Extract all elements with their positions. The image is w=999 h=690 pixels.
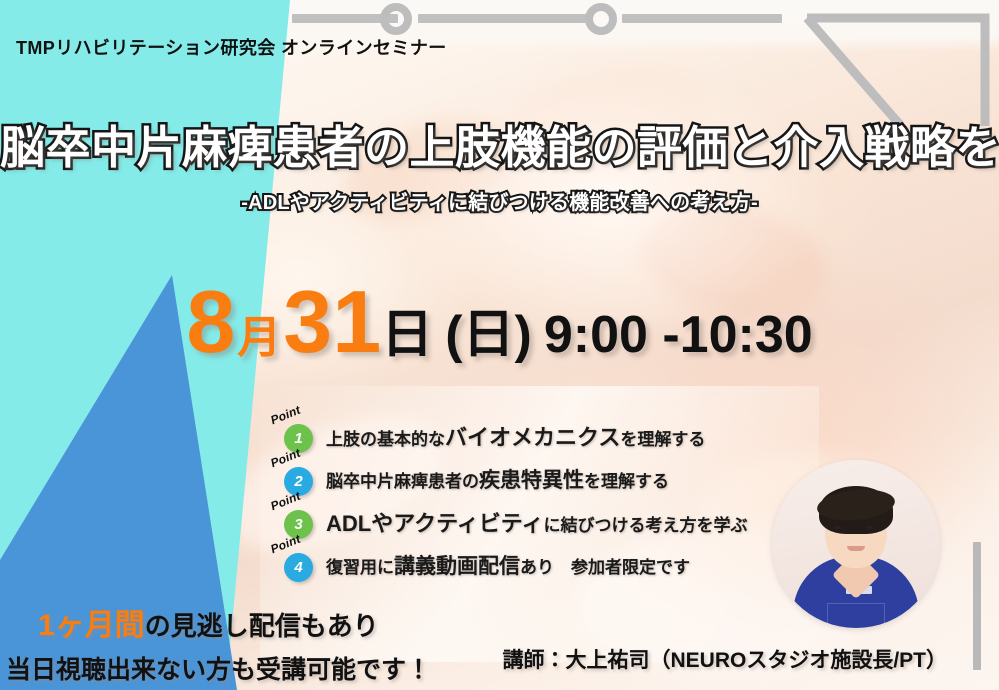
point-badge: Point 4 (284, 549, 316, 581)
deco-ring-icon (585, 3, 617, 35)
point-item: Point 3 ADLやアクティビティに結びつける考え方を学ぶ (284, 500, 747, 543)
point-text-lead: 脳卒中片麻痺患者の (326, 472, 479, 491)
point-badge: Point 3 (284, 506, 316, 538)
point-text: ADLやアクティビティに結びつける考え方を学ぶ (326, 506, 747, 538)
avatar-eye-right (866, 526, 873, 529)
date-month-number: 8 (186, 278, 235, 366)
deco-corner-angle-icon (779, 6, 999, 126)
instructor-caption: 講師：大上祐司（NEUROスタジオ施設長/PT） (502, 644, 947, 674)
date-weekday: (日) (445, 309, 532, 361)
point-text-emphasis: 講義動画配信 (394, 555, 520, 578)
point-text-tail: を理解する (620, 430, 705, 449)
title-block: 脳卒中片麻痺患者の上肢機能の評価と介入戦略を学ぶ -ADLやアクティビティに結び… (0, 122, 999, 215)
point-text: 復習用に講義動画配信あり 参加者限定です (326, 550, 690, 580)
point-text: 脳卒中片麻痺患者の疾患特異性を理解する (326, 464, 669, 494)
organizer-line: TMPリハビリテーション研究会 オンラインセミナー (16, 34, 447, 60)
date-day-number: 31 (283, 278, 381, 366)
avatar-scrubs-pocket (827, 603, 885, 628)
page-title: 脳卒中片麻痺患者の上肢機能の評価と介入戦略を学ぶ (0, 122, 999, 174)
point-text-tail: に結びつける考え方を学ぶ (543, 516, 747, 535)
page-subtitle: -ADLやアクティビティに結びつける機能改善への考え方- (0, 186, 999, 215)
instructor-avatar (772, 460, 940, 628)
date-month-unit: 月 (237, 316, 281, 360)
points-list: Point 1 上肢の基本的なバイオメカニクスを理解する Point 2 脳卒中… (284, 414, 747, 586)
promo-line-1-rest: の見逃し配信もあり (145, 611, 379, 641)
point-text-tail: を理解する (584, 472, 669, 491)
date-row: 8 月 31 日 (日) 9:00 -10:30 (0, 278, 999, 366)
point-badge: Point 2 (284, 463, 316, 495)
avatar-mouth (847, 546, 865, 551)
point-text-lead: 上肢の基本的な (326, 430, 445, 449)
deco-line-segment (622, 14, 782, 23)
promo-line-2: 当日視聴出来ない方も受講可能です！ (6, 650, 424, 686)
point-text-lead: 復習用に (326, 558, 394, 577)
point-item: Point 2 脳卒中片麻痺患者の疾患特異性を理解する (284, 457, 747, 500)
point-item: Point 1 上肢の基本的なバイオメカニクスを理解する (284, 414, 747, 457)
point-number-circle: 4 (284, 553, 313, 582)
point-text: 上肢の基本的なバイオメカニクスを理解する (326, 420, 705, 452)
point-badge: Point 1 (284, 420, 316, 452)
point-text-tail: あり 参加者限定です (520, 558, 690, 577)
point-item: Point 4 復習用に講義動画配信あり 参加者限定です (284, 543, 747, 586)
deco-right-bar (973, 542, 981, 670)
promo-line-1: 1ヶ月間の見逃し配信もあり (38, 600, 424, 644)
promo-block: 1ヶ月間の見逃し配信もあり 当日視聴出来ない方も受講可能です！ (4, 600, 424, 686)
point-text-emphasis: ADLやアクティビティ (326, 511, 543, 536)
promo-highlight: 1ヶ月間 (38, 609, 145, 642)
point-text-emphasis: 疾患特異性 (479, 469, 584, 492)
seminar-flyer: TMPリハビリテーション研究会 オンラインセミナー 脳卒中片麻痺患者の上肢機能の… (0, 0, 999, 690)
avatar-eye-left (834, 526, 841, 529)
date-day-unit: 日 (381, 309, 433, 361)
deco-line-segment (418, 14, 588, 23)
point-text-emphasis: バイオメカニクス (445, 425, 620, 450)
date-time-range: 9:00 -10:30 (544, 309, 813, 361)
deco-ring-icon (380, 3, 412, 35)
